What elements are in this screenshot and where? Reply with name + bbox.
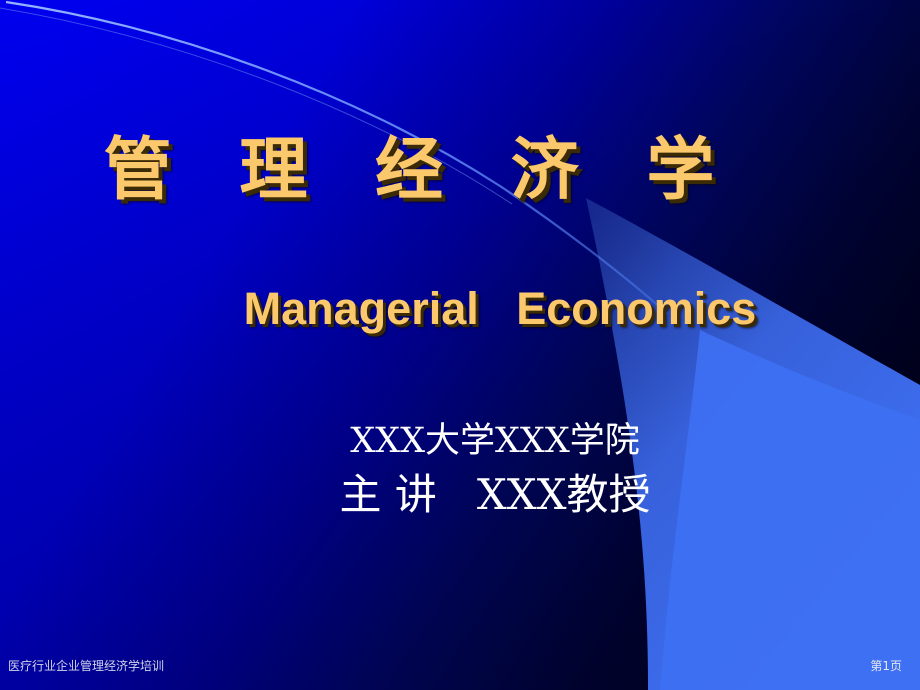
presenter-block: XXX大学XXX学院 主 讲 XXX教授: [0, 420, 920, 522]
footer-page-number: 第1页: [870, 657, 902, 674]
organization-line: XXX大学XXX学院: [70, 420, 920, 464]
slide-title-chinese: 管 理 经 济 学: [0, 134, 920, 207]
presentation-slide: 管 理 经 济 学 Managerial Economics XXX大学XXX学…: [0, 0, 920, 690]
slide-content: 管 理 经 济 学 Managerial Economics XXX大学XXX学…: [0, 0, 920, 690]
speaker-line: 主 讲 XXX教授: [70, 468, 920, 523]
footer-course-label: 医疗行业企业管理经济学培训: [8, 657, 164, 674]
slide-title-english: Managerial Economics: [0, 283, 920, 335]
